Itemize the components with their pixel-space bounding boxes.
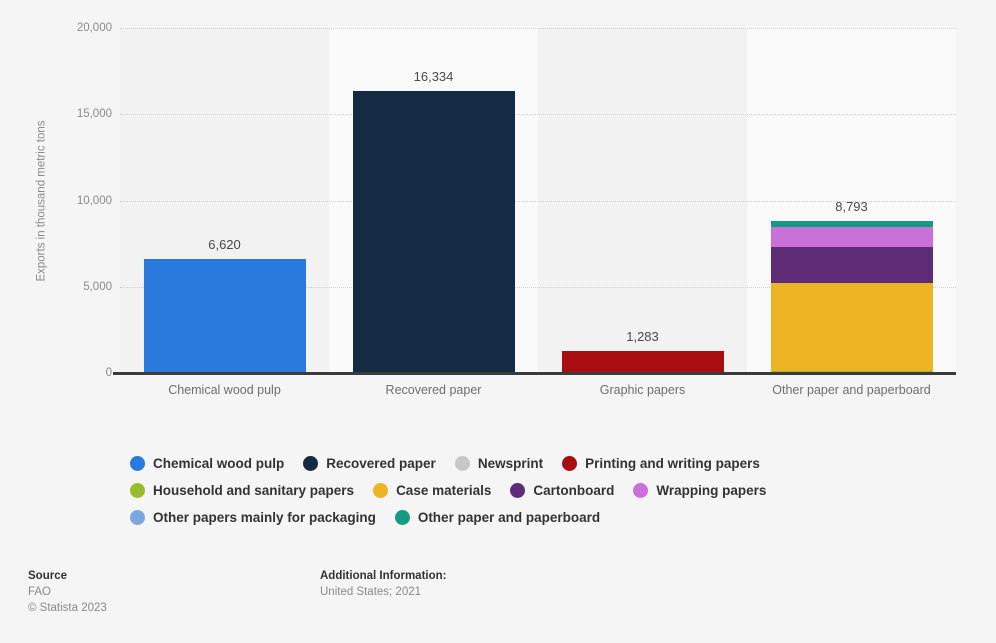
legend-row: Household and sanitary papersCase materi…	[130, 477, 890, 504]
legend-swatch-icon	[562, 456, 577, 471]
source-heading: Source	[28, 568, 107, 584]
bar-group: 6,620	[120, 28, 329, 373]
bar-segment[interactable]	[771, 247, 933, 283]
source-block: Source FAO © Statista 2023	[28, 568, 107, 616]
bar-value-label: 16,334	[414, 69, 454, 84]
legend-item-label: Household and sanitary papers	[153, 483, 354, 498]
bar-value-label: 8,793	[835, 199, 868, 214]
chart-container: Exports in thousand metric tons 05,00010…	[0, 0, 996, 420]
legend-row: Chemical wood pulpRecovered paperNewspri…	[130, 450, 890, 477]
y-axis-tick-label: 10,000	[2, 195, 112, 207]
bar-segment[interactable]	[144, 259, 306, 373]
legend-item-label: Wrapping papers	[656, 483, 766, 498]
legend-item[interactable]: Household and sanitary papers	[130, 483, 354, 498]
bar[interactable]	[353, 91, 515, 373]
additional-information-block: Additional Information: United States; 2…	[320, 568, 446, 600]
bar-group: 8,793	[747, 28, 956, 373]
legend-item[interactable]: Printing and writing papers	[562, 456, 760, 471]
x-axis-category-label: Recovered paper	[329, 383, 538, 397]
additional-information-text: United States; 2021	[320, 584, 446, 600]
bar-group: 16,334	[329, 28, 538, 373]
legend-item[interactable]: Recovered paper	[303, 456, 436, 471]
x-axis-category-label: Graphic papers	[538, 383, 747, 397]
legend-item[interactable]: Newsprint	[455, 456, 543, 471]
additional-information-heading: Additional Information:	[320, 568, 446, 584]
bar-group: 1,283	[538, 28, 747, 373]
legend-row: Other papers mainly for packagingOther p…	[130, 504, 890, 531]
bar[interactable]	[144, 259, 306, 373]
bar-segment[interactable]	[562, 351, 724, 373]
legend-item[interactable]: Chemical wood pulp	[130, 456, 284, 471]
bars-layer: 6,62016,3341,2838,793	[120, 28, 956, 373]
x-axis-category-label: Other paper and paperboard	[747, 383, 956, 397]
legend-swatch-icon	[303, 456, 318, 471]
legend-swatch-icon	[633, 483, 648, 498]
bar-value-label: 1,283	[626, 329, 659, 344]
x-axis-labels: Chemical wood pulpRecovered paperGraphic…	[120, 383, 956, 407]
y-axis-tick-label: 15,000	[2, 108, 112, 120]
legend-item-label: Recovered paper	[326, 456, 436, 471]
legend-item[interactable]: Wrapping papers	[633, 483, 766, 498]
legend-item-label: Newsprint	[478, 456, 543, 471]
legend-item-label: Other papers mainly for packaging	[153, 510, 376, 525]
legend-item[interactable]: Other paper and paperboard	[395, 510, 600, 525]
y-axis-tick-label: 0	[2, 367, 112, 379]
chart-legend: Chemical wood pulpRecovered paperNewspri…	[130, 450, 890, 531]
bar[interactable]	[771, 221, 933, 373]
legend-swatch-icon	[455, 456, 470, 471]
legend-swatch-icon	[130, 483, 145, 498]
legend-item-label: Other paper and paperboard	[418, 510, 600, 525]
bar-segment[interactable]	[771, 283, 933, 371]
legend-swatch-icon	[373, 483, 388, 498]
x-axis-category-label: Chemical wood pulp	[120, 383, 329, 397]
y-axis-ticks: 05,00010,00015,00020,000	[0, 28, 112, 373]
legend-item-label: Printing and writing papers	[585, 456, 760, 471]
bar-value-label: 6,620	[208, 237, 241, 252]
bar[interactable]	[562, 351, 724, 373]
x-axis-line	[113, 372, 956, 375]
legend-item[interactable]: Cartonboard	[510, 483, 614, 498]
legend-swatch-icon	[510, 483, 525, 498]
legend-swatch-icon	[395, 510, 410, 525]
legend-item-label: Chemical wood pulp	[153, 456, 284, 471]
y-axis-tick-label: 5,000	[2, 281, 112, 293]
legend-item[interactable]: Case materials	[373, 483, 491, 498]
legend-swatch-icon	[130, 456, 145, 471]
legend-item-label: Cartonboard	[533, 483, 614, 498]
bar-segment[interactable]	[353, 91, 515, 373]
legend-item-label: Case materials	[396, 483, 491, 498]
y-axis-tick-label: 20,000	[2, 22, 112, 34]
copyright-text: © Statista 2023	[28, 600, 107, 616]
source-name: FAO	[28, 584, 107, 600]
bar-segment[interactable]	[771, 227, 933, 248]
legend-item[interactable]: Other papers mainly for packaging	[130, 510, 376, 525]
legend-swatch-icon	[130, 510, 145, 525]
